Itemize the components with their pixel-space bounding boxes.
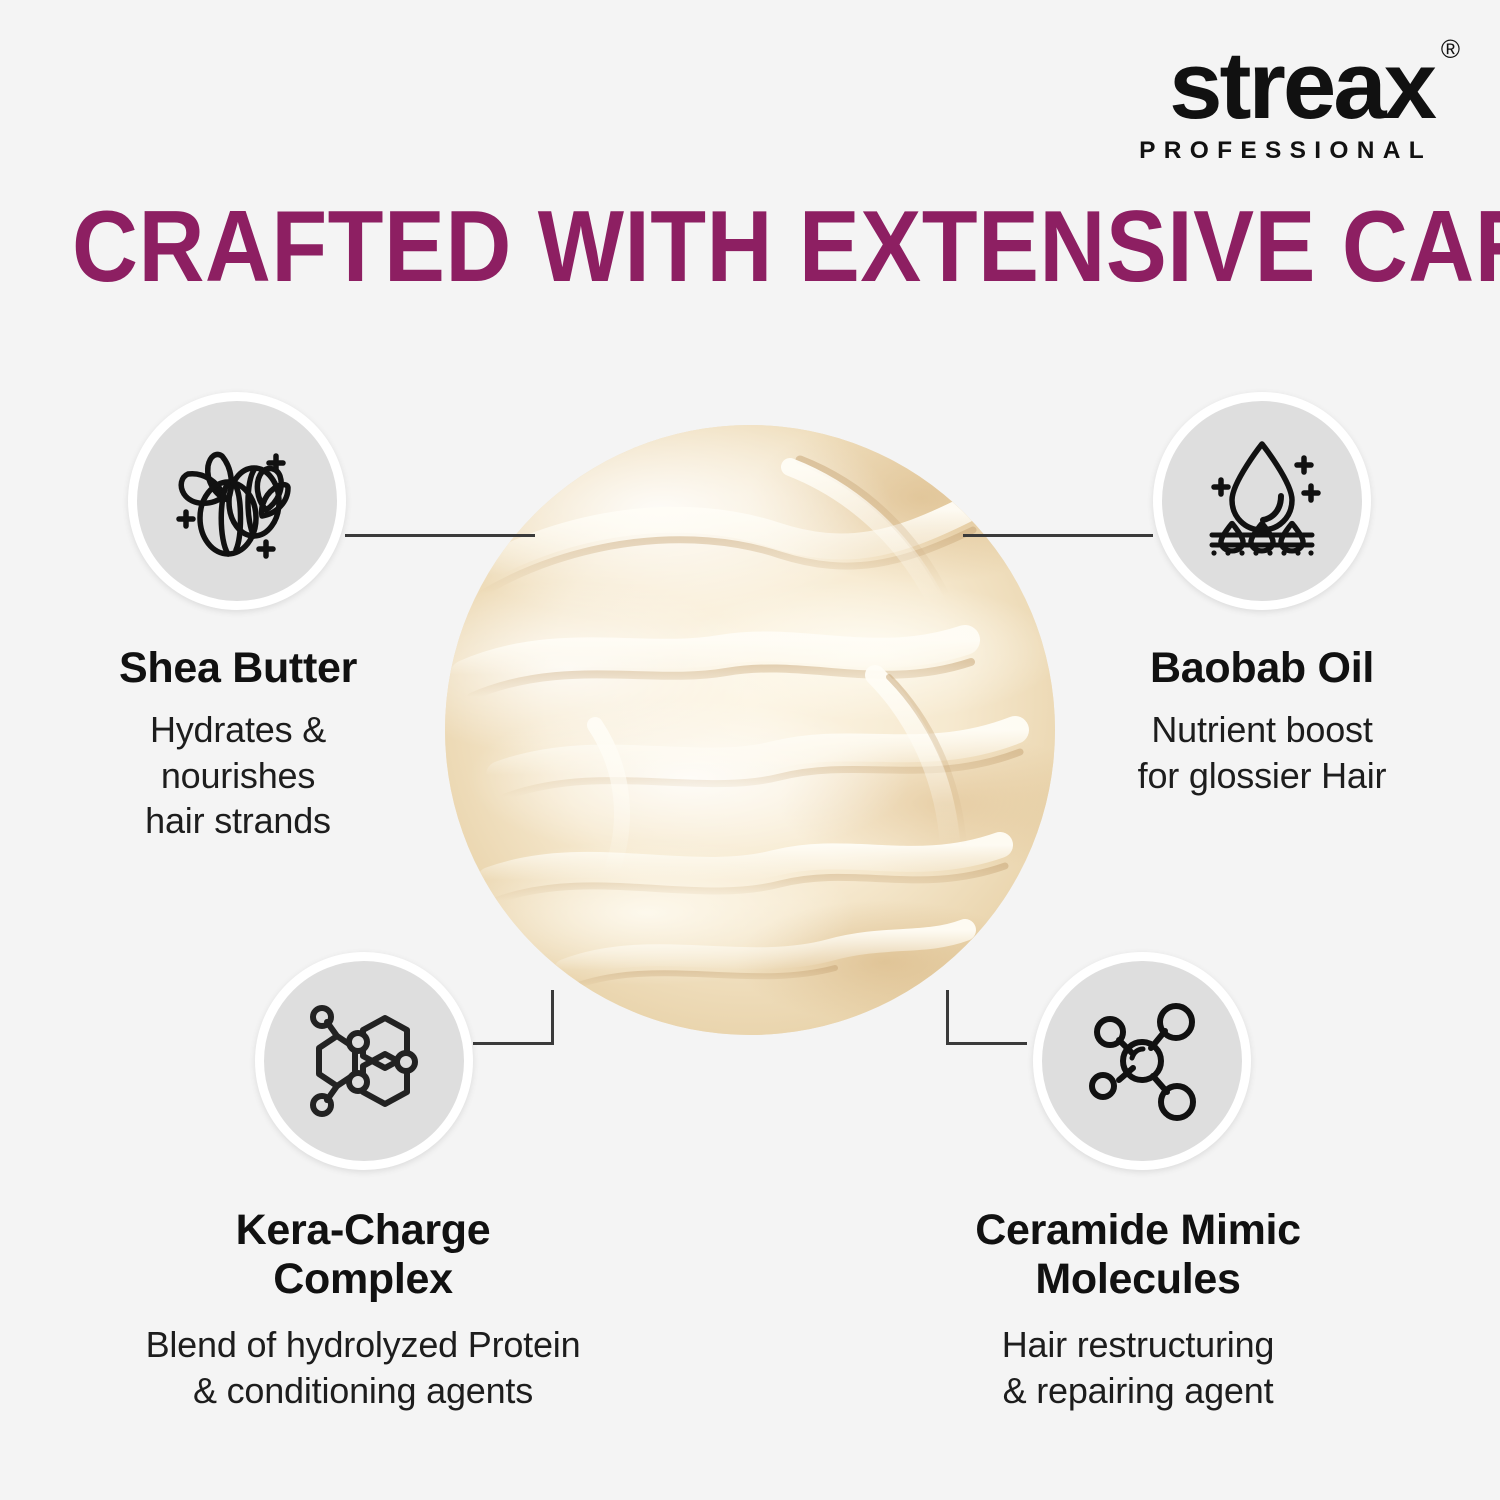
feature-description: Blend of hydrolyzed Protein & conditioni… bbox=[48, 1322, 678, 1413]
molecule-hexagon-icon bbox=[255, 952, 473, 1170]
registered-trademark-icon: ® bbox=[1441, 38, 1460, 62]
shea-nut-icon bbox=[128, 392, 346, 610]
feature-title: Shea Butter bbox=[18, 644, 458, 693]
feature-shea-butter: Shea Butter Hydrates & nourishes hair st… bbox=[18, 392, 458, 844]
feature-description: Hair restructuring & repairing agent bbox=[828, 1322, 1448, 1413]
feature-kera-charge-complex: Kera-Charge Complex Blend of hydrolyzed … bbox=[48, 952, 678, 1413]
feature-ceramide-mimic-molecules: Ceramide Mimic Molecules Hair restructur… bbox=[828, 952, 1448, 1413]
molecule-node-network-icon bbox=[1033, 952, 1251, 1170]
product-texture-swatch bbox=[445, 425, 1055, 1035]
cream-swirl-overlay bbox=[445, 425, 1055, 1035]
brand-wordmark: streax® bbox=[1169, 42, 1434, 130]
page-title: CRAFTED WITH EXTENSIVE CARE bbox=[72, 197, 1303, 298]
oil-droplet-absorption-icon bbox=[1153, 392, 1371, 610]
feature-description: Hydrates & nourishes hair strands bbox=[18, 707, 458, 844]
feature-description: Nutrient boost for glossier Hair bbox=[1042, 707, 1482, 798]
brand-tagline: PROFESSIONAL bbox=[1139, 139, 1434, 164]
infographic-page: streax® PROFESSIONAL CRAFTED WITH EXTENS… bbox=[0, 0, 1500, 1500]
feature-title: Kera-Charge Complex bbox=[48, 1206, 678, 1304]
brand-wordmark-text: streax bbox=[1169, 32, 1434, 139]
feature-baobab-oil: Baobab Oil Nutrient boost for glossier H… bbox=[1042, 392, 1482, 798]
feature-title: Ceramide Mimic Molecules bbox=[828, 1206, 1448, 1304]
brand-logo: streax® PROFESSIONAL bbox=[1139, 42, 1434, 164]
feature-title: Baobab Oil bbox=[1042, 644, 1482, 693]
